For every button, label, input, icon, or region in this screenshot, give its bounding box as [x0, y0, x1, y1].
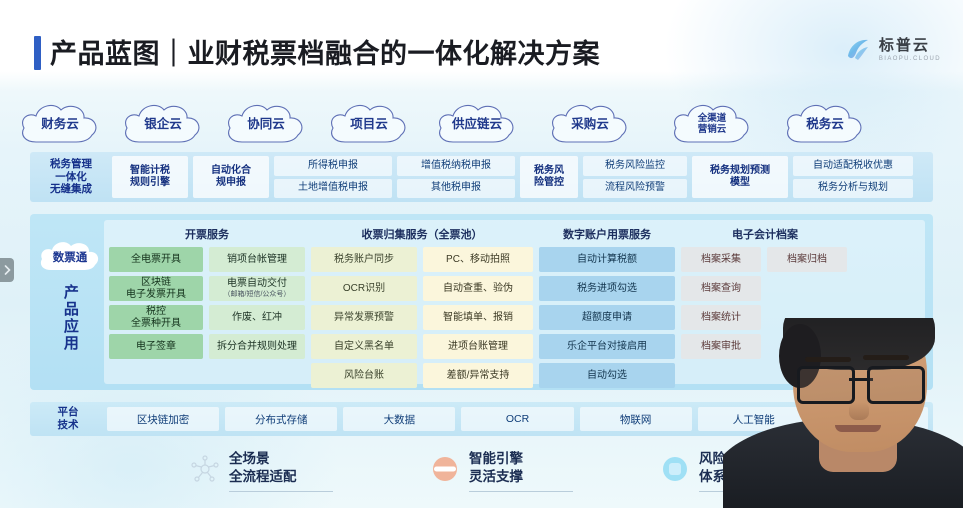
cloud-item-8[interactable]: 税务云	[781, 100, 869, 144]
cloud-item-label: 银企云	[119, 100, 207, 144]
platform-technology-band: 平台 技术 区块链加密分布式存储大数据OCR物联网人工智能	[30, 402, 933, 436]
feature-divider	[469, 491, 573, 492]
platform-item-4[interactable]: OCR	[461, 407, 573, 431]
video-side-panel-toggle[interactable]	[0, 258, 14, 282]
product-group-3: 数字账户用票服务自动计算税额税务进项勾选超额度申请乐企平台对接启用自动勾选	[539, 224, 675, 380]
feature-divider	[699, 491, 803, 492]
tax-management-band: 税务管理 一体化 无缝集成 智能计税规则引擎自动化合规申报所得税申报土地增值税申…	[30, 152, 933, 202]
product-tile[interactable]: 档案采集	[681, 247, 761, 272]
slide-header: 产品蓝图｜业财税票档融合的一体化解决方案 标普云	[0, 14, 963, 70]
product-tile[interactable]: 税控全票种开具	[109, 305, 203, 330]
product-tile[interactable]: 差额/异常支持	[423, 363, 533, 388]
cloud-item-label: 税务云	[781, 100, 869, 144]
logo-text-cn: 标普云	[879, 38, 941, 53]
logo-swoosh-icon	[844, 36, 872, 64]
product-group-column: 全电票开具区块链电子发票开具税控全票种开具电子签章	[109, 247, 203, 380]
product-group-1: 开票服务全电票开具区块链电子发票开具税控全票种开具电子签章销项台帐管理电票自动交…	[109, 224, 305, 380]
platform-item-2[interactable]: 分布式存储	[225, 407, 337, 431]
product-tile[interactable]: 自动勾选	[539, 363, 675, 388]
cloud-item-label: 供应链云	[433, 100, 521, 144]
product-tile[interactable]: 档案查询	[681, 276, 761, 301]
feature-item-3: 风险管控体系化	[660, 450, 803, 492]
tax-band-cell-top: 所得税申报	[274, 156, 392, 176]
shield-ring-icon	[660, 454, 690, 484]
product-tile[interactable]: 税务账户同步	[311, 247, 417, 272]
tax-band-cell-top: 税务风险监控	[583, 156, 687, 176]
feature-item-1: 全场景全流程适配	[190, 450, 333, 492]
shupiaotong-cloud: 数票通	[37, 238, 103, 272]
product-group-column: 档案归档	[767, 247, 847, 380]
cloud-item-4[interactable]: 项目云	[325, 100, 413, 144]
product-application-panel: 数票通 产品应用 开票服务全电票开具区块链电子发票开具税控全票种开具电子签章销项…	[30, 214, 933, 390]
product-group-title: 电子会计档案	[681, 226, 849, 242]
product-tile[interactable]: PC、移动拍照	[423, 247, 533, 272]
tax-band-cell-bottom: 土地增值税申报	[274, 179, 392, 199]
product-tile[interactable]: 档案统计	[681, 305, 761, 330]
product-tile[interactable]: 拆分合并规则处理	[209, 334, 305, 359]
tax-band-cell-2[interactable]: 自动化合规申报	[193, 156, 269, 198]
platform-item-1[interactable]: 区块链加密	[107, 407, 219, 431]
cloud-item-7[interactable]: 全渠道营销云	[668, 100, 756, 144]
feature-subtitle: 体系化	[699, 468, 803, 486]
product-group-column: 档案采集档案查询档案统计档案审批	[681, 247, 761, 380]
product-tile[interactable]: 乐企平台对接启用	[539, 334, 675, 359]
brand-logo: 标普云 BIAOPU.CLOUD	[844, 36, 941, 64]
tax-band-cell-text: 税务规划预测模型	[692, 156, 788, 198]
platform-item-5[interactable]: 物联网	[580, 407, 692, 431]
page-title: 产品蓝图｜业财税票档融合的一体化解决方案	[50, 32, 600, 71]
tax-band-cell-7[interactable]: 税务规划预测模型	[692, 156, 788, 198]
product-tile[interactable]: 全电票开具	[109, 247, 203, 272]
product-tile[interactable]: 税务进项勾选	[539, 276, 675, 301]
tax-band-label: 税务管理 一体化 无缝集成	[35, 156, 107, 198]
shupiaotong-label: 数票通	[37, 238, 103, 272]
tax-band-cell-top: 增值税纳税申报	[397, 156, 515, 176]
platform-band-label: 平台 技术	[35, 406, 101, 431]
product-group-4: 电子会计档案档案采集档案查询档案统计档案审批档案归档	[681, 224, 849, 380]
cloud-item-label: 财务云	[16, 100, 104, 144]
product-tile[interactable]: 自定义黑名单	[311, 334, 417, 359]
product-tile[interactable]: 异常发票预警	[311, 305, 417, 330]
tax-band-cell-text: 税务风险管控	[520, 156, 578, 198]
tax-band-cell-bottom: 税务分析与规划	[793, 179, 913, 199]
feature-item-2: 智能引擎灵活支撑	[430, 450, 573, 492]
cloud-item-label: 项目云	[325, 100, 413, 144]
tax-band-cell-4[interactable]: 增值税纳税申报其他税申报	[397, 156, 515, 198]
feature-title: 智能引擎	[469, 450, 573, 468]
feature-subtitle: 全流程适配	[229, 468, 333, 486]
product-tile[interactable]: 超额度申请	[539, 305, 675, 330]
product-tile[interactable]: 自动计算税额	[539, 247, 675, 272]
product-tile[interactable]: 电票自动交付（邮箱/短信/公众号）	[209, 276, 305, 301]
platform-label-line1: 平台	[35, 406, 101, 419]
cloud-product-row: 财务云银企云协同云项目云供应链云采购云全渠道营销云税务云	[0, 100, 963, 152]
tax-band-cell-1[interactable]: 智能计税规则引擎	[112, 156, 188, 198]
product-tile[interactable]: 电子签章	[109, 334, 203, 359]
feature-divider	[229, 491, 333, 492]
tax-band-cell-8[interactable]: 自动适配税收优惠税务分析与规划	[793, 156, 913, 198]
product-tile-empty	[767, 276, 847, 301]
network-nodes-icon	[190, 454, 220, 484]
product-tile[interactable]: 风险台账	[311, 363, 417, 388]
cloud-item-2[interactable]: 银企云	[119, 100, 207, 144]
cloud-item-label: 协同云	[222, 100, 310, 144]
title-accent-bar	[34, 36, 41, 70]
product-tile[interactable]: 进项台账管理	[423, 334, 533, 359]
cloud-item-1[interactable]: 财务云	[16, 100, 104, 144]
tax-band-cell-text: 自动化合规申报	[193, 156, 269, 198]
product-tile[interactable]: 销项台帐管理	[209, 247, 305, 272]
feature-title: 全场景	[229, 450, 333, 468]
product-group-column: 销项台帐管理电票自动交付（邮箱/短信/公众号）作废、红冲拆分合并规则处理	[209, 247, 305, 380]
tax-band-cell-top: 自动适配税收优惠	[793, 156, 913, 176]
product-tile-empty	[767, 334, 847, 359]
product-application-vertical-label: 产品应用	[62, 284, 78, 352]
product-group-2: 收票归集服务（全票池）税务账户同步OCR识别异常发票预警自定义黑名单风险台账PC…	[311, 224, 533, 380]
tax-band-cell-3[interactable]: 所得税申报土地增值税申报	[274, 156, 392, 198]
product-groups: 开票服务全电票开具区块链电子发票开具税控全票种开具电子签章销项台帐管理电票自动交…	[104, 220, 925, 384]
cloud-item-3[interactable]: 协同云	[222, 100, 310, 144]
tax-band-cell-5[interactable]: 税务风险管控	[520, 156, 578, 198]
product-tile[interactable]: 作废、红冲	[209, 305, 305, 330]
platform-item-3[interactable]: 大数据	[343, 407, 455, 431]
feature-subtitle: 灵活支撑	[469, 468, 573, 486]
platform-item-7[interactable]	[816, 407, 928, 431]
engine-gauge-icon	[430, 454, 460, 484]
tax-band-label-line1: 税务管理	[50, 158, 92, 171]
tax-band-cell-text: 智能计税规则引擎	[112, 156, 188, 198]
product-tile[interactable]: 档案审批	[681, 334, 761, 359]
cloud-item-label: 全渠道营销云	[668, 100, 756, 144]
platform-label-line2: 技术	[35, 419, 101, 432]
product-tile[interactable]: 自动查重、验伪	[423, 276, 533, 301]
logo-text-en: BIAOPU.CLOUD	[879, 56, 941, 62]
cloud-item-label: 采购云	[546, 100, 634, 144]
tax-band-label-line2: 一体化	[55, 171, 87, 184]
product-group-column: 自动计算税额税务进项勾选超额度申请乐企平台对接启用自动勾选	[539, 247, 675, 388]
feature-title: 风险管控	[699, 450, 803, 468]
product-tile[interactable]: 区块链电子发票开具	[109, 276, 203, 301]
tax-band-cell-bottom: 其他税申报	[397, 179, 515, 199]
tax-band-label-line3: 无缝集成	[50, 183, 92, 196]
tax-band-cell-6[interactable]: 税务风险监控流程风险预警	[583, 156, 687, 198]
slide-canvas: 产品蓝图｜业财税票档融合的一体化解决方案 标普云	[0, 0, 963, 508]
product-group-title: 收票归集服务（全票池）	[311, 226, 533, 242]
product-group-title: 数字账户用票服务	[539, 226, 675, 242]
cloud-item-5[interactable]: 供应链云	[433, 100, 521, 144]
cloud-item-6[interactable]: 采购云	[546, 100, 634, 144]
product-tile-empty	[767, 305, 847, 330]
product-tile[interactable]: 档案归档	[767, 247, 847, 272]
product-left-rail: 数票通 产品应用	[36, 220, 104, 384]
product-group-column: PC、移动拍照自动查重、验伪智能填单、报销进项台账管理差额/异常支持	[423, 247, 533, 388]
product-tile[interactable]: OCR识别	[311, 276, 417, 301]
product-group-column: 税务账户同步OCR识别异常发票预警自定义黑名单风险台账	[311, 247, 417, 388]
product-group-title: 开票服务	[109, 226, 305, 242]
key-features-row: 全场景全流程适配智能引擎灵活支撑风险管控体系化	[0, 444, 963, 508]
tax-band-cell-bottom: 流程风险预警	[583, 179, 687, 199]
product-tile[interactable]: 智能填单、报销	[423, 305, 533, 330]
platform-item-6[interactable]: 人工智能	[698, 407, 810, 431]
